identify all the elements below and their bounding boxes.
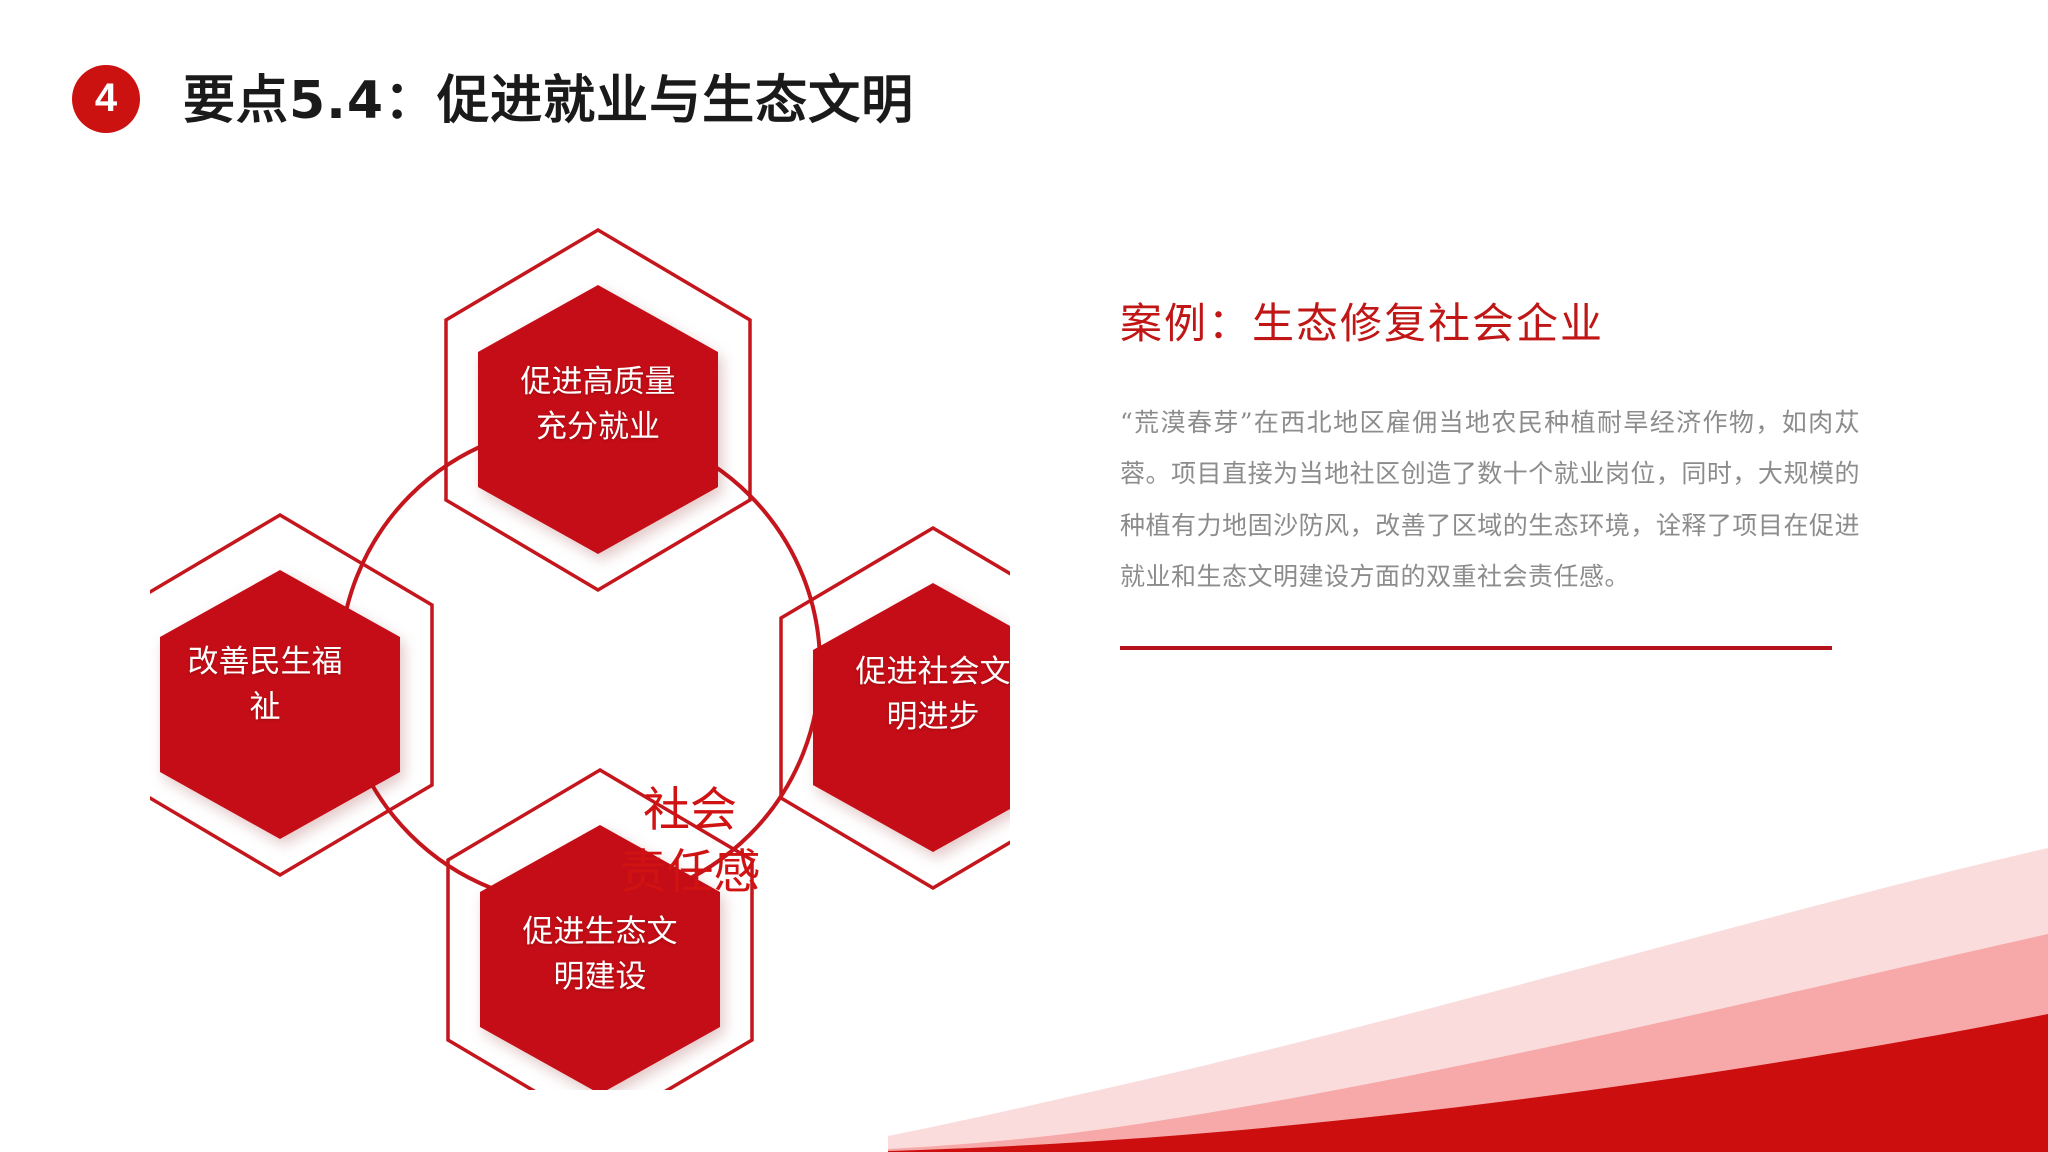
diagram-center-label: 社会 责任感 <box>580 780 800 904</box>
slide-canvas: 4 要点5.4：促进就业与生态文明 促 <box>0 0 2048 1152</box>
hexagon-label-bottom: 促进生态文 明建设 <box>460 910 740 1001</box>
hexagon-label-left: 改善民生福 祉 <box>130 640 400 731</box>
page-title: 要点5.4：促进就业与生态文明 <box>183 58 914 133</box>
case-study-body: “荒漠春芽”在西北地区雇佣当地农民种植耐旱经济作物，如肉苁蓉。项目直接为当地社区… <box>1120 397 1860 602</box>
hexagon-diagram: 促进高质量 充分就业 改善民生福 祉 促进社会文 明进步 促进生态文 明建设 社… <box>150 210 1010 1090</box>
hexagon-label-top: 促进高质量 充分就业 <box>458 360 738 451</box>
case-study-heading: 案例：生态修复社会企业 <box>1120 290 1860 351</box>
wave-layer-light <box>888 848 2048 1152</box>
section-number-badge: 4 <box>72 65 140 133</box>
wave-layer-dark <box>888 1014 2048 1152</box>
wave-decoration <box>888 842 2048 1152</box>
slide-header: 4 要点5.4：促进就业与生态文明 <box>0 0 2048 170</box>
section-number-label: 4 <box>95 78 117 118</box>
hexagon-label-right: 促进社会文 明进步 <box>798 650 1068 741</box>
panel-divider <box>1120 646 1832 650</box>
case-study-panel: 案例：生态修复社会企业 “荒漠春芽”在西北地区雇佣当地农民种植耐旱经济作物，如肉… <box>1120 290 1860 650</box>
wave-layer-mid <box>888 934 2048 1152</box>
